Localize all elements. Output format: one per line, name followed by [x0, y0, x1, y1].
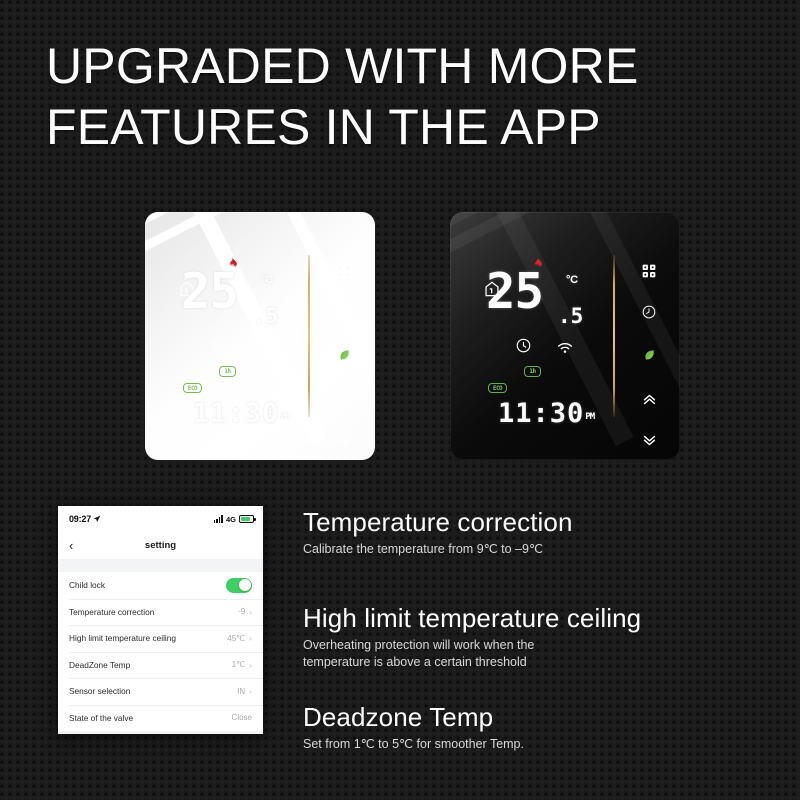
thermostat-white-button-rail [328, 250, 360, 460]
wifi-icon [557, 341, 573, 353]
list-item[interactable]: State of the valve Close [58, 705, 263, 732]
chevron-right-icon: › [249, 634, 252, 643]
thermostat-black-face: 25 .5 °C 1h ECO 11:30PM [450, 212, 680, 460]
setting-value: -9 [238, 607, 245, 616]
page-title: UPGRADED WITH MORE FEATURES IN THE APP [46, 36, 746, 158]
temperature-display: 25 [486, 272, 543, 312]
headline-line-1: UPGRADED WITH MORE [46, 36, 746, 97]
feature-block-deadzone-temp: Deadzone Temp Set from 1℃ to 5℃ for smoo… [303, 703, 773, 753]
temperature-display: 25 [181, 272, 238, 312]
chevron-double-down-icon[interactable] [633, 420, 665, 460]
setting-label: DeadZone Temp [69, 660, 130, 670]
timer-icon[interactable] [328, 291, 360, 332]
status-badge-hour: 1h [524, 366, 541, 377]
battery-icon [239, 515, 254, 523]
clock-icon [516, 338, 531, 353]
grid-mode-icon[interactable] [633, 250, 665, 291]
list-item[interactable]: Temperature correction -9 › [58, 599, 263, 626]
setting-label: Child lock [69, 580, 105, 590]
settings-list: Child lock Temperature correction -9 › H… [58, 572, 263, 731]
list-item[interactable]: DeadZone Temp 1℃ › [58, 652, 263, 679]
phone-page-title: setting [58, 540, 263, 551]
thermostat-black: 25 .5 °C 1h ECO 11:30PM [450, 212, 680, 460]
wifi-icon [252, 341, 268, 353]
clock-icon [211, 338, 226, 353]
setting-control: 45℃ › [227, 634, 252, 643]
eco-leaf-icon[interactable] [328, 332, 360, 379]
gold-divider [613, 255, 615, 417]
eco-leaf-icon[interactable] [633, 332, 665, 379]
chevron-double-up-icon[interactable] [633, 379, 665, 420]
feature-subtitle: Calibrate the temperature from 9℃ to –9℃ [303, 541, 773, 558]
feature-subtitle: Set from 1℃ to 5℃ for smoother Temp. [303, 736, 773, 753]
child-lock-toggle[interactable] [226, 578, 252, 593]
setting-control [226, 578, 252, 593]
temperature-unit: °C [566, 274, 578, 286]
setting-value: Close [232, 713, 252, 722]
feature-title: High limit temperature ceiling [303, 604, 773, 633]
clock-meridiem: PM [585, 412, 594, 422]
thermostat-black-button-rail [633, 250, 665, 460]
setting-value: IN [237, 687, 245, 696]
thermostat-white-face: 25 .5 °C 1h ECO [145, 212, 375, 460]
list-footer-spacer [58, 731, 263, 734]
phone-status-bar: 09:27 4G [58, 506, 263, 532]
chevron-right-icon: › [249, 687, 252, 696]
clock-meridiem: PM [280, 412, 289, 422]
section-spacer [58, 559, 263, 572]
list-item[interactable]: Sensor selection IN › [58, 678, 263, 705]
setting-value: 45℃ [227, 634, 245, 643]
clock-time: 11:30 [193, 398, 279, 429]
signal-bars-icon [214, 515, 223, 523]
feature-title: Deadzone Temp [303, 703, 773, 732]
setting-control: Close [232, 713, 252, 722]
temperature-unit: °C [261, 274, 273, 286]
feature-block-high-limit-ceiling: High limit temperature ceiling Overheati… [303, 604, 773, 672]
timer-icon[interactable] [633, 291, 665, 332]
network-type-label: 4G [226, 515, 236, 524]
list-item[interactable]: Child lock [58, 572, 263, 599]
status-badge-eco: ECO [183, 383, 202, 393]
chevron-right-icon: › [249, 608, 252, 617]
headline-line-2: FEATURES IN THE APP [46, 97, 746, 158]
setting-control: 1℃ › [232, 660, 252, 669]
phone-app-screenshot: 09:27 4G ‹ setting Child lock [58, 506, 263, 734]
feature-block-temperature-correction: Temperature correction Calibrate the tem… [303, 508, 773, 558]
temperature-decimal: .5 [558, 304, 583, 328]
list-item[interactable]: High limit temperature ceiling 45℃ › [58, 625, 263, 652]
grid-mode-icon[interactable] [328, 250, 360, 291]
setting-control: -9 › [238, 607, 252, 616]
phone-nav-bar: ‹ setting [58, 532, 263, 559]
temperature-value: 25 [181, 272, 238, 312]
temperature-decimal: .5 [253, 304, 278, 328]
feature-subtitle: Overheating protection will work when th… [303, 637, 773, 672]
feature-title: Temperature correction [303, 508, 773, 537]
temperature-value: 25 [486, 272, 543, 312]
clock-readout: 11:30PM [193, 398, 289, 429]
status-bar-indicators: 4G [214, 515, 254, 524]
setting-label: Temperature correction [69, 607, 154, 617]
chevron-right-icon: › [249, 661, 252, 670]
setting-value: 1℃ [232, 660, 245, 669]
setting-label: State of the valve [69, 713, 133, 723]
gold-divider [308, 255, 310, 417]
clock-time: 11:30 [498, 398, 584, 429]
thermostat-white: 25 .5 °C 1h ECO [145, 212, 375, 460]
location-arrow-icon [93, 510, 101, 528]
status-badge-hour: 1h [219, 366, 236, 377]
setting-label: High limit temperature ceiling [69, 633, 176, 643]
chevron-double-down-icon[interactable] [328, 420, 360, 460]
status-bar-time: 09:27 [69, 514, 91, 524]
setting-label: Sensor selection [69, 686, 130, 696]
status-badge-eco: ECO [488, 383, 507, 393]
setting-control: IN › [237, 687, 252, 696]
promo-page: UPGRADED WITH MORE FEATURES IN THE APP [0, 0, 800, 800]
clock-readout: 11:30PM [498, 398, 594, 429]
chevron-double-up-icon[interactable] [328, 379, 360, 420]
